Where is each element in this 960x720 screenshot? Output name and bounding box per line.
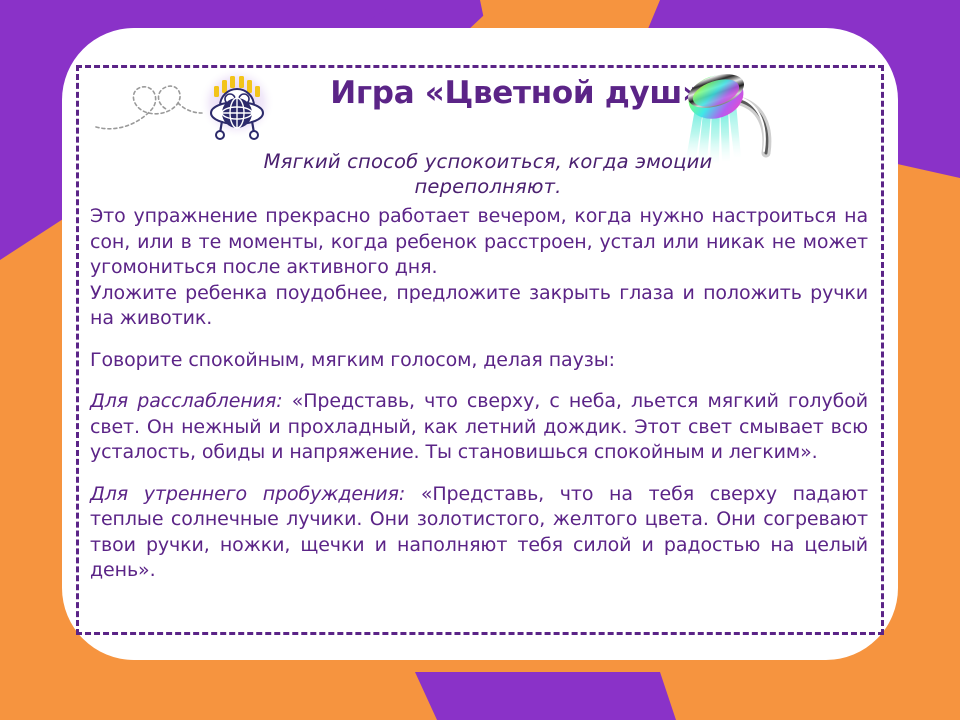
- relaxation-lead: Для расслабления:: [90, 390, 283, 412]
- content-area: Игра «Цветной душ»: [76, 65, 884, 635]
- page-title: Игра «Цветной душ»: [306, 75, 726, 111]
- paragraph-relaxation: Для расслабления: «Представь, что сверху…: [90, 389, 868, 466]
- morning-lead: Для утреннего пробуждения:: [90, 483, 405, 505]
- paragraph-intro: Это упражнение прекрасно работает вечеро…: [90, 204, 868, 281]
- subtitle: Мягкий способ успокоиться, когда эмоции …: [128, 149, 848, 199]
- ufo-globe-logo: [198, 68, 276, 142]
- slide-canvas: Игра «Цветной душ»: [0, 0, 960, 720]
- subtitle-line-2: переполняют.: [414, 175, 561, 198]
- paragraph-setup: Уложите ребенка поудобнее, предложите за…: [90, 281, 868, 332]
- paragraph-voice-instruction: Говорите спокойным, мягким голосом, дела…: [90, 348, 868, 374]
- header-row: Игра «Цветной душ»: [76, 65, 884, 147]
- paragraph-morning: Для утреннего пробуждения: «Представь, ч…: [90, 482, 868, 584]
- subtitle-line-1: Мягкий способ успокоиться, когда эмоции: [264, 150, 713, 173]
- purple-wedge-bottom-center: [415, 672, 676, 720]
